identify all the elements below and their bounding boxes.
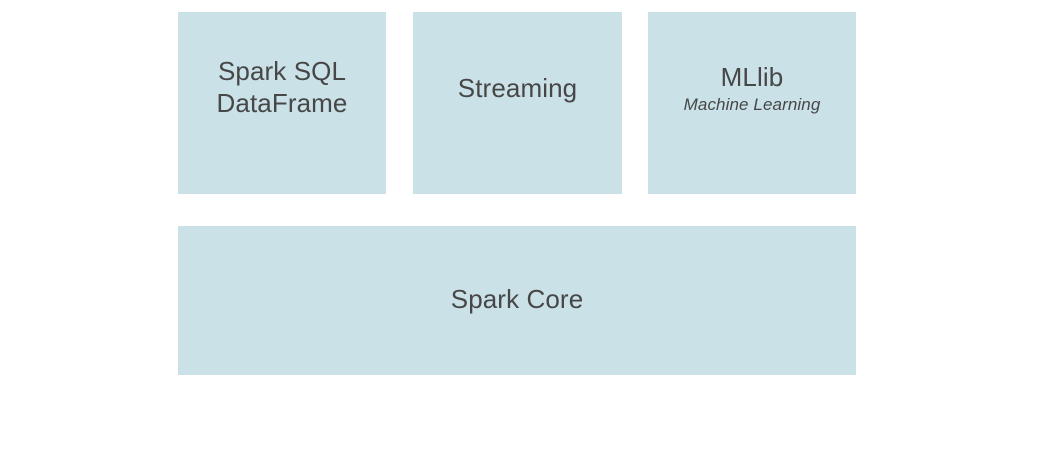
diagram-node-spark-sql: Spark SQL DataFrame — [178, 12, 386, 194]
node-text-block: Spark Core — [451, 284, 584, 316]
diagram-node-mllib: MLlib Machine Learning — [648, 12, 856, 194]
node-label-streaming: Streaming — [458, 73, 577, 105]
node-text-block: Streaming — [458, 73, 577, 105]
node-label-spark-sql: Spark SQL DataFrame — [217, 56, 348, 119]
diagram-node-streaming: Streaming — [413, 12, 622, 194]
node-text-block: MLlib Machine Learning — [684, 62, 821, 115]
node-label-spark-core: Spark Core — [451, 284, 584, 316]
node-text-block: Spark SQL DataFrame — [217, 58, 348, 119]
node-sublabel-mllib: Machine Learning — [684, 95, 821, 116]
diagram-node-spark-core: Spark Core — [178, 226, 856, 375]
node-label-mllib: MLlib — [721, 62, 784, 94]
spark-stack-diagram: Spark SQL DataFrame Streaming MLlib Mach… — [0, 0, 1053, 457]
